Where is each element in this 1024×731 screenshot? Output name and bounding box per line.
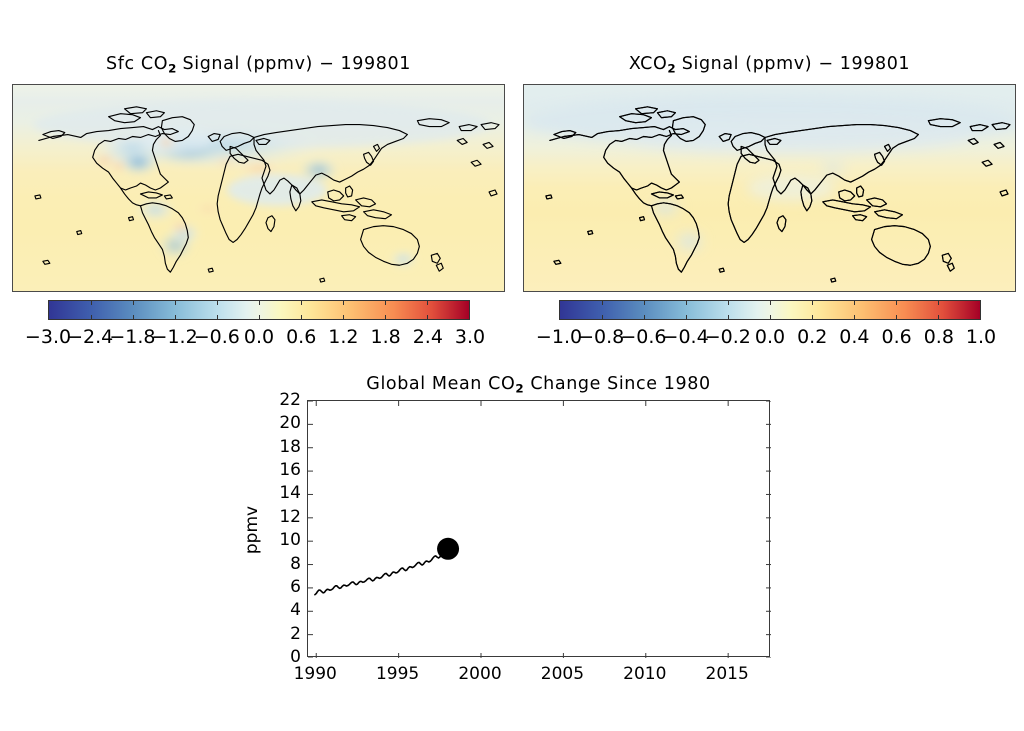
lineplot-title-suffix: Change Since 1980 bbox=[524, 374, 710, 394]
xco2-colorbar-tick-label: −0.6 bbox=[620, 326, 666, 348]
y-tick-label: 6 bbox=[261, 577, 301, 597]
lineplot-title: Global Mean CO2 Change Since 1980 bbox=[307, 374, 770, 395]
xco2-map-title-prefix: XCO bbox=[629, 54, 668, 74]
xco2-colorbar-tick-label: 0.2 bbox=[797, 326, 827, 348]
y-tick-label: 12 bbox=[261, 507, 301, 527]
x-tick-label: 1995 bbox=[376, 664, 419, 684]
xco2-colorbar-tick-label: −0.8 bbox=[578, 326, 624, 348]
sfc-colorbar-tick-label: −2.4 bbox=[67, 326, 113, 348]
y-tick-label: 4 bbox=[261, 600, 301, 620]
co2-change-line bbox=[315, 549, 448, 595]
xco2-map-title-suffix: Signal (ppmv) − 199801 bbox=[676, 54, 911, 74]
xco2-map-title-subscript: 2 bbox=[667, 61, 675, 75]
sfc-colorbar-tick-label: −3.0 bbox=[25, 326, 71, 348]
x-tick-label: 1990 bbox=[294, 664, 337, 684]
sfc-colorbar-tick-label: 2.4 bbox=[413, 326, 443, 348]
sfc-map-title-suffix: Signal (ppmv) − 199801 bbox=[176, 54, 411, 74]
xco2-colorbar-tick-label: 0.4 bbox=[839, 326, 869, 348]
sfc-colorbar-tick-label: 0.0 bbox=[244, 326, 274, 348]
current-month-marker[interactable] bbox=[437, 538, 459, 560]
y-tick-label: 20 bbox=[261, 413, 301, 433]
xco2-colorbar-tick-label: −1.0 bbox=[536, 326, 582, 348]
global-mean-co2-plot[interactable] bbox=[307, 400, 770, 657]
xco2-colorbar-tick-label: −0.4 bbox=[663, 326, 709, 348]
sfc-co2-map-canvas bbox=[13, 85, 504, 291]
sfc-map-title: Sfc CO2 Signal (ppmv) − 199801 bbox=[12, 54, 505, 75]
xco2-map-title: XCO2 Signal (ppmv) − 199801 bbox=[523, 54, 1016, 75]
xco2-map-panel[interactable] bbox=[523, 84, 1016, 292]
global-mean-co2-series bbox=[308, 401, 771, 658]
y-tick-label: 22 bbox=[261, 390, 301, 410]
sfc-colorbar-tick-label: −1.8 bbox=[109, 326, 155, 348]
axis-tickmarks bbox=[308, 401, 771, 658]
sfc-colorbar-tick-label: 1.8 bbox=[370, 326, 400, 348]
y-axis-label: ppmv bbox=[242, 500, 262, 560]
y-tick-label: 2 bbox=[261, 624, 301, 644]
xco2-colorbar-gradient bbox=[560, 301, 980, 319]
x-tick-label: 2015 bbox=[706, 664, 749, 684]
x-axis-tick-labels: 199019952000200520102015 bbox=[307, 662, 770, 688]
co2-signal-figure: Sfc CO2 Signal (ppmv) − 199801 bbox=[0, 0, 1024, 731]
x-tick-label: 2010 bbox=[623, 664, 666, 684]
sfc-colorbar-tick-label: 1.2 bbox=[328, 326, 358, 348]
xco2-colorbar[interactable] bbox=[559, 300, 981, 320]
lineplot-title-prefix: Global Mean CO bbox=[366, 374, 515, 394]
y-tick-label: 14 bbox=[261, 483, 301, 503]
xco2-colorbar-labels: −1.0−0.8−0.6−0.4−0.20.00.20.40.60.81.0 bbox=[559, 326, 981, 352]
xco2-colorbar-tick-label: 0.6 bbox=[881, 326, 911, 348]
sfc-map-title-prefix: Sfc CO bbox=[106, 54, 168, 74]
lineplot-title-subscript: 2 bbox=[515, 381, 524, 395]
sfc-colorbar-tick-label: 0.6 bbox=[286, 326, 316, 348]
xco2-colorbar-tick-label: −0.2 bbox=[705, 326, 751, 348]
y-tick-label: 18 bbox=[261, 437, 301, 457]
xco2-map-canvas bbox=[524, 85, 1015, 291]
sfc-colorbar-tick-label: −1.2 bbox=[152, 326, 198, 348]
sfc-colorbar-gradient bbox=[49, 301, 469, 319]
y-tick-label: 10 bbox=[261, 530, 301, 550]
x-tick-label: 2005 bbox=[541, 664, 584, 684]
y-tick-label: 16 bbox=[261, 460, 301, 480]
sfc-colorbar-tick-label: 3.0 bbox=[455, 326, 485, 348]
sfc-colorbar[interactable] bbox=[48, 300, 470, 320]
sfc-colorbar-labels: −3.0−2.4−1.8−1.2−0.60.00.61.21.82.43.0 bbox=[48, 326, 470, 352]
y-tick-label: 8 bbox=[261, 554, 301, 574]
xco2-colorbar-tick-label: 1.0 bbox=[966, 326, 996, 348]
sfc-co2-map-panel[interactable] bbox=[12, 84, 505, 292]
x-tick-label: 2000 bbox=[458, 664, 501, 684]
xco2-colorbar-tick-label: 0.0 bbox=[755, 326, 785, 348]
xco2-colorbar-tick-label: 0.8 bbox=[924, 326, 954, 348]
sfc-colorbar-tick-label: −0.6 bbox=[194, 326, 240, 348]
